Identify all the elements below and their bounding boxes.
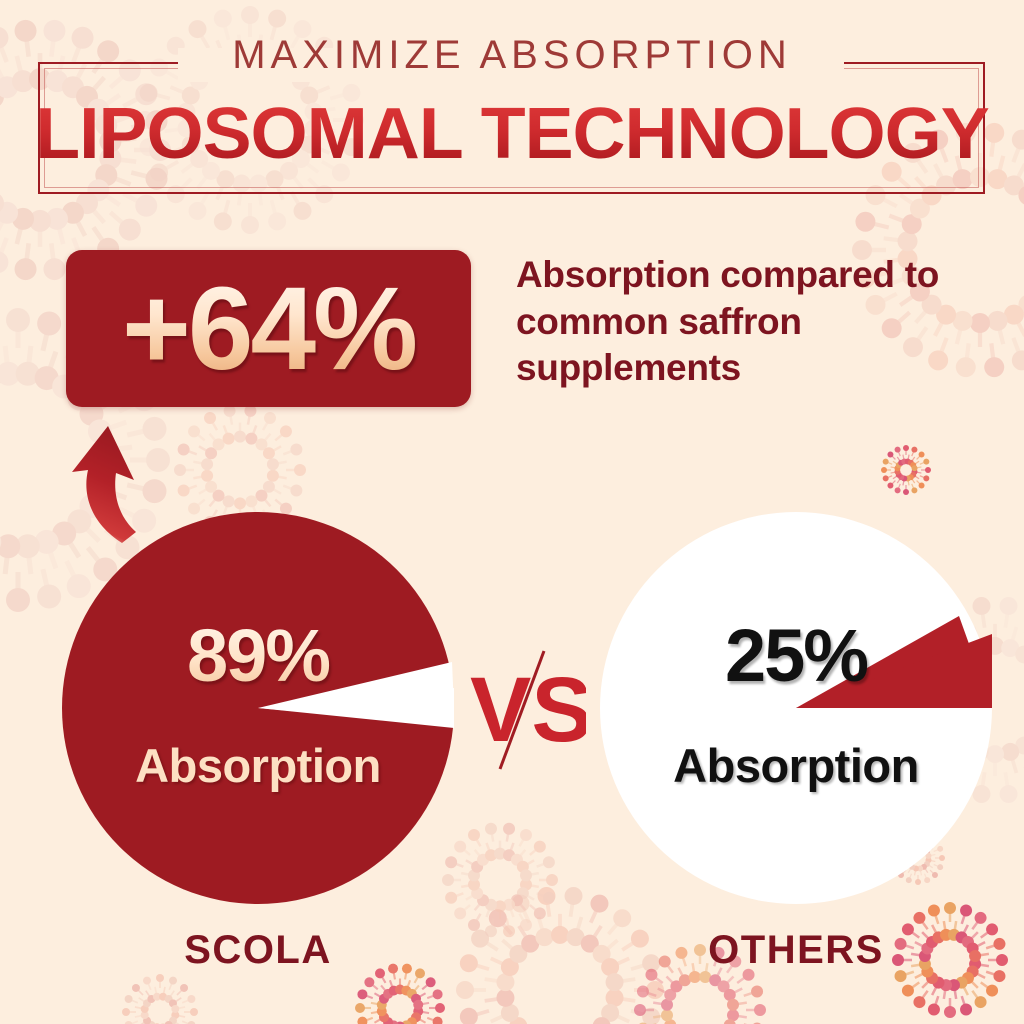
caption-scola: SCOLA [62, 928, 454, 973]
page-title: LIPOSOMAL TECHNOLOGY [0, 93, 1024, 175]
caption-others: OTHERS [600, 928, 992, 973]
badge-description: Absorption compared to common saffron su… [516, 252, 986, 392]
pie-sublabel-others: Absorption [600, 742, 992, 789]
pie-value-others: 25% [600, 619, 992, 693]
liposome-icon [122, 974, 198, 1024]
pie-chart-scola-graphic [62, 512, 454, 904]
liposome-icon [881, 445, 931, 495]
versus-label: VS [470, 659, 586, 761]
badge-value: +64% [122, 270, 415, 388]
pie-chart-others: 25% Absorption [600, 512, 992, 904]
pie-sublabel-scola: Absorption [62, 742, 454, 789]
liposome-icon [442, 823, 558, 937]
pie-chart-scola: 89% Absorption [62, 512, 454, 904]
pie-value-scola: 89% [62, 619, 454, 693]
absorption-increase-badge: +64% [66, 250, 471, 407]
header-eyebrow: MAXIMIZE ABSORPTION [0, 33, 1024, 78]
pie-chart-others-graphic [600, 512, 992, 904]
infographic-canvas: MAXIMIZE ABSORPTION LIPOSOMAL TECHNOLOGY… [0, 0, 1024, 1024]
versus-divider: VS [466, 645, 586, 775]
